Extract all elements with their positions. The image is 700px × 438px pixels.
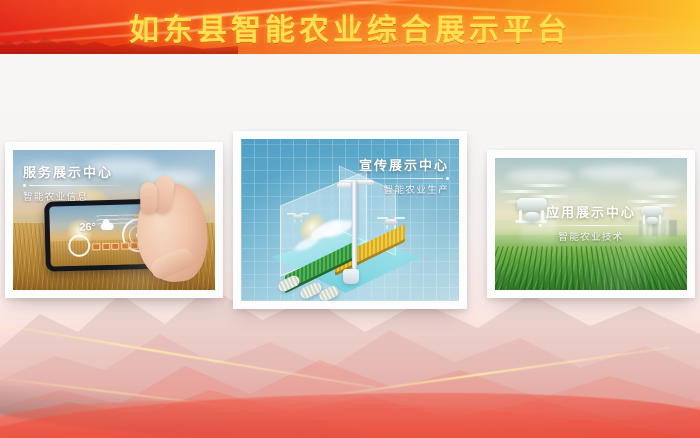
temperature-readout: 26° [79, 221, 96, 233]
card-service-caption: 服务展示中心 智能农业信息 [23, 162, 123, 203]
page-title: 如东县智能农业综合展示平台 [0, 0, 700, 54]
card-application-subtitle: 智能农业技术 [539, 229, 643, 243]
crop-rows [495, 247, 687, 290]
card-promotion-subtitle: 智能农业生产 [341, 182, 449, 196]
card-promotion[interactable]: 宣传展示中心 智能农业生产 [233, 131, 467, 309]
finger [140, 182, 157, 214]
thumb [148, 245, 197, 282]
card-application[interactable]: 应用展示中心 智能农业技术 [487, 150, 695, 298]
header-banner: 如东县智能农业综合展示平台 [0, 0, 700, 54]
cloud-icon [101, 223, 114, 230]
drone-icon [378, 215, 404, 228]
drone-icon [287, 212, 308, 222]
card-promotion-title: 宣传展示中心 [341, 155, 449, 174]
caption-divider [539, 224, 643, 227]
card-application-image: 应用展示中心 智能农业技术 [495, 158, 687, 290]
card-promotion-caption: 宣传展示中心 智能农业生产 [341, 155, 449, 196]
water-tank [343, 269, 359, 284]
card-promotion-image: 宣传展示中心 智能农业生产 [241, 139, 459, 301]
card-service[interactable]: 26° 服务展示中心 智能农业信息 [5, 142, 223, 298]
caption-divider [23, 184, 123, 187]
card-application-caption: 应用展示中心 智能农业技术 [539, 202, 643, 243]
card-service-subtitle: 智能农业信息 [23, 189, 123, 203]
app-root: 如东县智能农业综合展示平台 26° [0, 0, 700, 438]
caption-divider [341, 177, 449, 180]
card-application-title: 应用展示中心 [539, 202, 643, 221]
card-service-image: 26° 服务展示中心 智能农业信息 [13, 150, 215, 290]
card-service-title: 服务展示中心 [23, 162, 123, 181]
